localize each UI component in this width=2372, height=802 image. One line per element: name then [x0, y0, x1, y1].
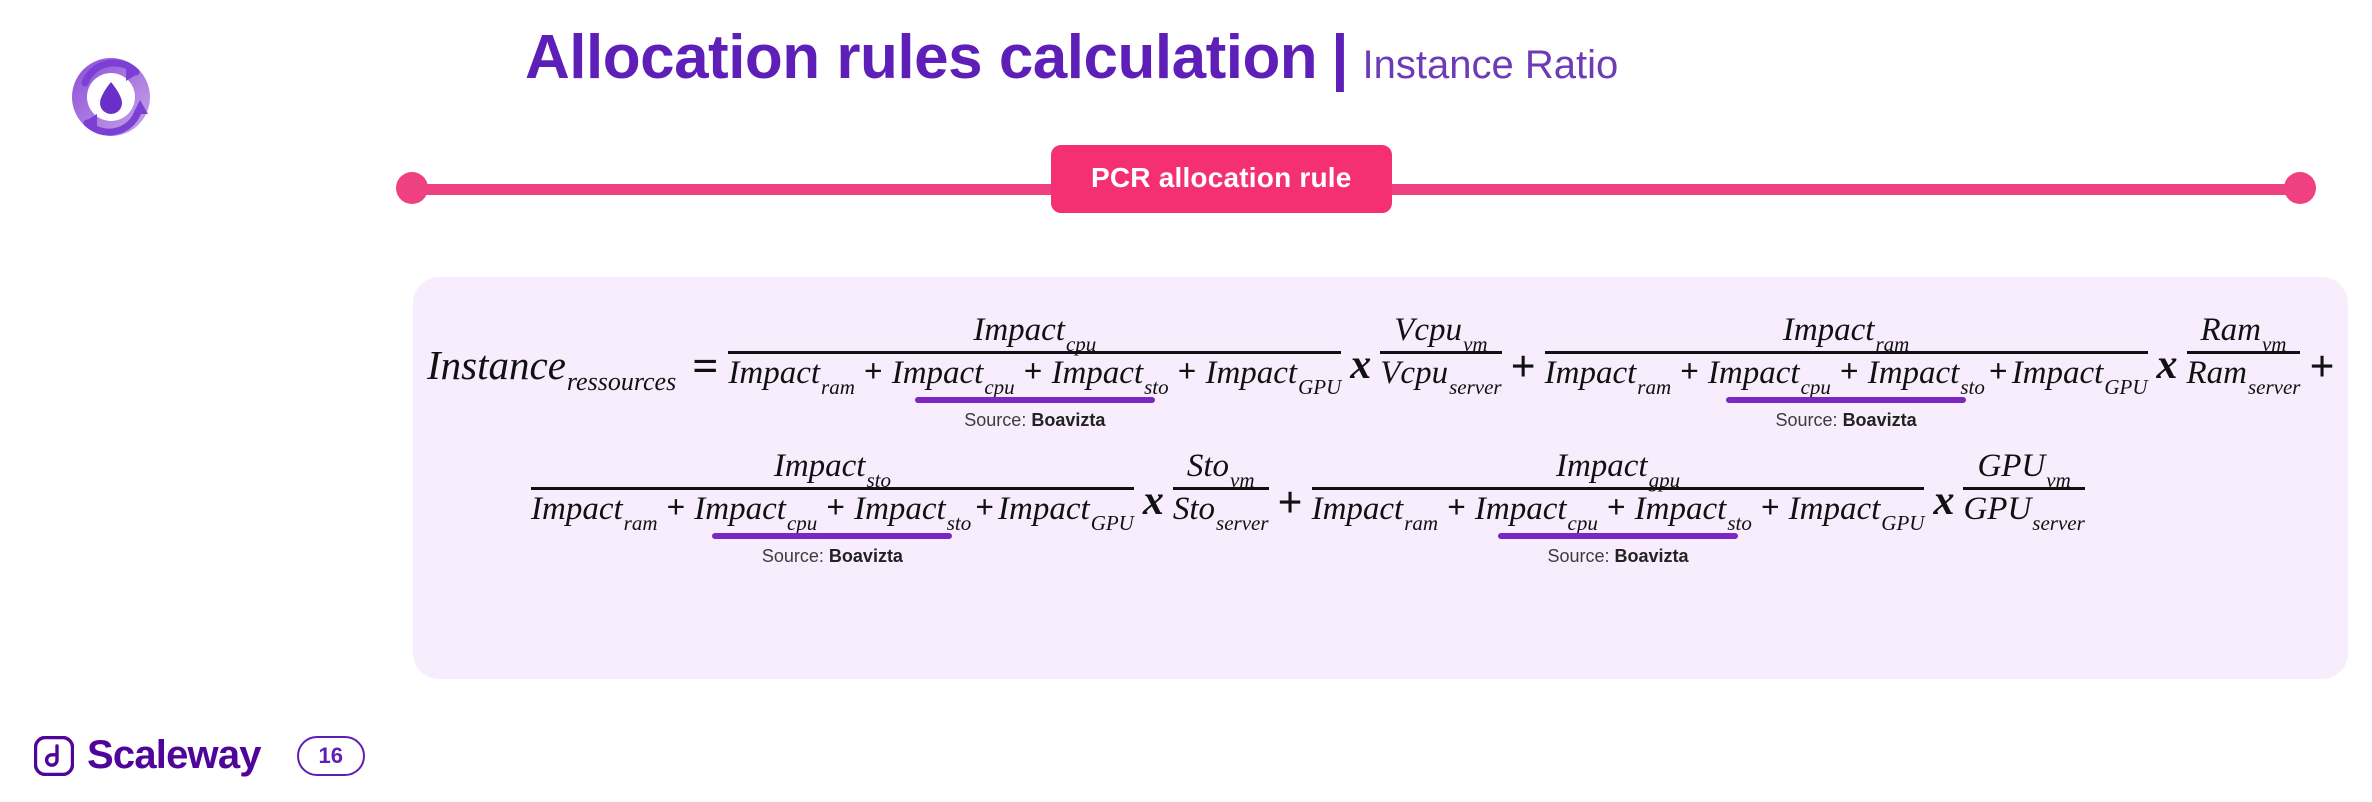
- den-sub: server: [1449, 376, 1501, 399]
- fraction-denominator: Vcpuserver: [1380, 354, 1501, 392]
- den-base: Impact: [854, 492, 946, 528]
- source-text: Source: Boavizta: [964, 410, 1105, 431]
- plus-sign: +: [1511, 313, 1536, 392]
- fraction-impact-cpu: Impactcpu Impactram + Impactcpu + Impact…: [728, 313, 1341, 391]
- fraction-denominator: Impactram + Impactcpu + Impactsto + Impa…: [1312, 490, 1925, 528]
- fraction-numerator: Vcpuvm: [1394, 313, 1487, 351]
- rule-badge: PCR allocation rule: [1051, 145, 1392, 213]
- den-base: Impact: [1051, 356, 1143, 392]
- den-base: Impact: [1635, 492, 1727, 528]
- source-note-cpu: Source: Boavizta: [915, 397, 1155, 431]
- den-sub: ram: [1404, 512, 1438, 535]
- source-bar: [1498, 533, 1738, 539]
- den-base: Impact: [1789, 492, 1881, 528]
- numerator-sub: vm: [1463, 333, 1488, 356]
- source-note-sto: Source: Boavizta: [712, 533, 952, 567]
- den-plus: +: [1680, 355, 1699, 391]
- lhs-term: Instanceressources: [427, 313, 676, 389]
- den-base: Impact: [1205, 356, 1297, 392]
- den-base: Vcpu: [1380, 356, 1448, 392]
- fraction-denominator: Ramserver: [2187, 354, 2301, 392]
- den-base: Impact: [531, 492, 623, 528]
- den-sub: ram: [821, 376, 855, 399]
- lhs-base: Instance: [427, 341, 566, 389]
- den-base: Impact: [728, 356, 820, 392]
- den-base: Impact: [998, 492, 1090, 528]
- numerator-sub: cpu: [1066, 333, 1096, 356]
- fraction-numerator: Ramvm: [2200, 313, 2286, 351]
- fraction-impact-ram: Impactram Impactram + Impactcpu + Impact…: [1545, 313, 2148, 391]
- den-sub: ram: [1637, 376, 1671, 399]
- den-plus: +: [1840, 355, 1859, 391]
- fraction-impact-gpu: Impactgpu Impactram + Impactcpu + Impact…: [1312, 449, 1925, 527]
- den-sub: GPU: [1881, 512, 1924, 535]
- fraction-numerator: Impactsto: [774, 449, 891, 487]
- plus-sign: +: [1278, 449, 1303, 528]
- den-plus: +: [975, 491, 994, 527]
- den-plus: +: [1607, 491, 1626, 527]
- source-name: Boavizta: [1843, 410, 1917, 430]
- numerator-base: Impact: [973, 313, 1065, 349]
- numerator-sub: vm: [2262, 333, 2287, 356]
- source-bar: [1726, 397, 1966, 403]
- den-sub: sto: [1960, 376, 1985, 399]
- scaleway-mark-icon: [34, 736, 74, 776]
- den-sub: GPU: [1298, 376, 1341, 399]
- numerator-base: Impact: [1783, 313, 1875, 349]
- source-text: Source: Boavizta: [1547, 546, 1688, 567]
- title-separator: |: [1331, 22, 1348, 93]
- den-plus: +: [1761, 491, 1780, 527]
- numerator-sub: gpu: [1649, 469, 1681, 492]
- fraction-sto-ratio: Stovm Stoserver: [1173, 449, 1269, 527]
- source-name: Boavizta: [1615, 546, 1689, 566]
- fraction-denominator: Impactram + Impactcpu + Impactsto + Impa…: [728, 354, 1341, 392]
- den-sub: GPU: [2104, 376, 2147, 399]
- fraction-numerator: GPUvm: [1977, 449, 2070, 487]
- den-base: Impact: [1312, 492, 1404, 528]
- den-sub: cpu: [1801, 376, 1831, 399]
- den-base: Impact: [892, 356, 984, 392]
- den-plus: +: [666, 491, 685, 527]
- den-base: Impact: [1545, 356, 1637, 392]
- formula-row-2: Impactsto Impactram + Impactcpu + Impact…: [413, 449, 2348, 528]
- numerator-base: Ram: [2200, 313, 2261, 349]
- den-sub: ram: [624, 512, 658, 535]
- page-subtitle: Instance Ratio: [1363, 43, 1619, 88]
- source-prefix: Source:: [762, 546, 829, 566]
- numerator-base: Sto: [1187, 449, 1229, 485]
- den-base: Impact: [1708, 356, 1800, 392]
- page-title: Allocation rules calculation | Instance …: [525, 22, 1618, 93]
- den-sub: server: [1216, 512, 1268, 535]
- numerator-sub: sto: [866, 469, 891, 492]
- fraction-numerator: Impactcpu: [973, 313, 1096, 351]
- formula-row-1: Instanceressources = Impactcpu Impactram…: [413, 313, 2348, 392]
- fraction-numerator: Impactgpu: [1556, 449, 1680, 487]
- numerator-sub: vm: [2046, 469, 2071, 492]
- multiply-sign: x: [1143, 449, 1164, 525]
- den-base: GPU: [1963, 492, 2031, 528]
- source-bar: [915, 397, 1155, 403]
- den-plus: +: [864, 355, 883, 391]
- source-bar: [712, 533, 952, 539]
- multiply-sign: x: [1933, 449, 1954, 525]
- den-sub: cpu: [787, 512, 817, 535]
- fraction-denominator: Impactram + Impactcpu + Impactsto + Impa…: [1545, 354, 2148, 392]
- den-base: Impact: [1475, 492, 1567, 528]
- fraction-numerator: Stovm: [1187, 449, 1255, 487]
- multiply-sign: x: [1350, 313, 1371, 389]
- source-prefix: Source:: [964, 410, 1031, 430]
- source-text: Source: Boavizta: [762, 546, 903, 567]
- rule-endpoint-left-icon: [396, 172, 428, 204]
- den-sub: sto: [947, 512, 972, 535]
- fraction-numerator: Impactram: [1783, 313, 1909, 351]
- page-title-main: Allocation rules calculation: [525, 22, 1317, 93]
- source-text: Source: Boavizta: [1776, 410, 1917, 431]
- scaleway-logo: Scaleway: [34, 733, 261, 778]
- fraction-denominator: Impactram + Impactcpu + Impactsto + Impa…: [531, 490, 1134, 528]
- formula-panel: Instanceressources = Impactcpu Impactram…: [413, 277, 2348, 679]
- den-sub: cpu: [1568, 512, 1598, 535]
- den-sub: cpu: [984, 376, 1014, 399]
- den-base: Impact: [1868, 356, 1960, 392]
- source-name: Boavizta: [829, 546, 903, 566]
- scaleway-wordmark: Scaleway: [87, 733, 261, 778]
- numerator-sub: vm: [1230, 469, 1255, 492]
- numerator-base: Impact: [1556, 449, 1648, 485]
- den-plus: +: [1989, 355, 2008, 391]
- den-base: Sto: [1173, 492, 1215, 528]
- source-prefix: Source:: [1776, 410, 1843, 430]
- rule-endpoint-right-icon: [2284, 172, 2316, 204]
- numerator-base: Vcpu: [1394, 313, 1462, 349]
- den-base: Impact: [694, 492, 786, 528]
- footer: Scaleway 16: [34, 733, 365, 778]
- source-note-ram: Source: Boavizta: [1726, 397, 1966, 431]
- den-base: Impact: [2012, 356, 2104, 392]
- fraction-gpu-ratio: GPUvm GPUserver: [1963, 449, 2084, 527]
- den-plus: +: [1024, 355, 1043, 391]
- multiply-sign: x: [2157, 313, 2178, 389]
- source-name: Boavizta: [1031, 410, 1105, 430]
- den-base: Ram: [2187, 356, 2248, 392]
- recycle-water-drop-icon: [52, 42, 170, 152]
- den-plus: +: [826, 491, 845, 527]
- den-sub: GPU: [1091, 512, 1134, 535]
- den-sub: server: [2248, 376, 2300, 399]
- equals-sign: =: [692, 313, 718, 392]
- den-plus: +: [1178, 355, 1197, 391]
- den-sub: server: [2032, 512, 2084, 535]
- rule-banner: PCR allocation rule: [396, 172, 2316, 206]
- fraction-denominator: GPUserver: [1963, 490, 2084, 528]
- den-plus: +: [1447, 491, 1466, 527]
- source-note-gpu: Source: Boavizta: [1498, 533, 1738, 567]
- fraction-ram-ratio: Ramvm Ramserver: [2187, 313, 2301, 391]
- source-prefix: Source:: [1547, 546, 1614, 566]
- fraction-denominator: Stoserver: [1173, 490, 1269, 528]
- numerator-base: Impact: [774, 449, 866, 485]
- numerator-base: GPU: [1977, 449, 2045, 485]
- lhs-sub: ressources: [567, 367, 676, 397]
- den-sub: sto: [1727, 512, 1752, 535]
- den-sub: sto: [1144, 376, 1169, 399]
- page-number-badge: 16: [297, 736, 365, 776]
- numerator-sub: ram: [1875, 333, 1909, 356]
- plus-sign: +: [2309, 313, 2334, 392]
- fraction-impact-sto: Impactsto Impactram + Impactcpu + Impact…: [531, 449, 1134, 527]
- fraction-vcpu-ratio: Vcpuvm Vcpuserver: [1380, 313, 1501, 391]
